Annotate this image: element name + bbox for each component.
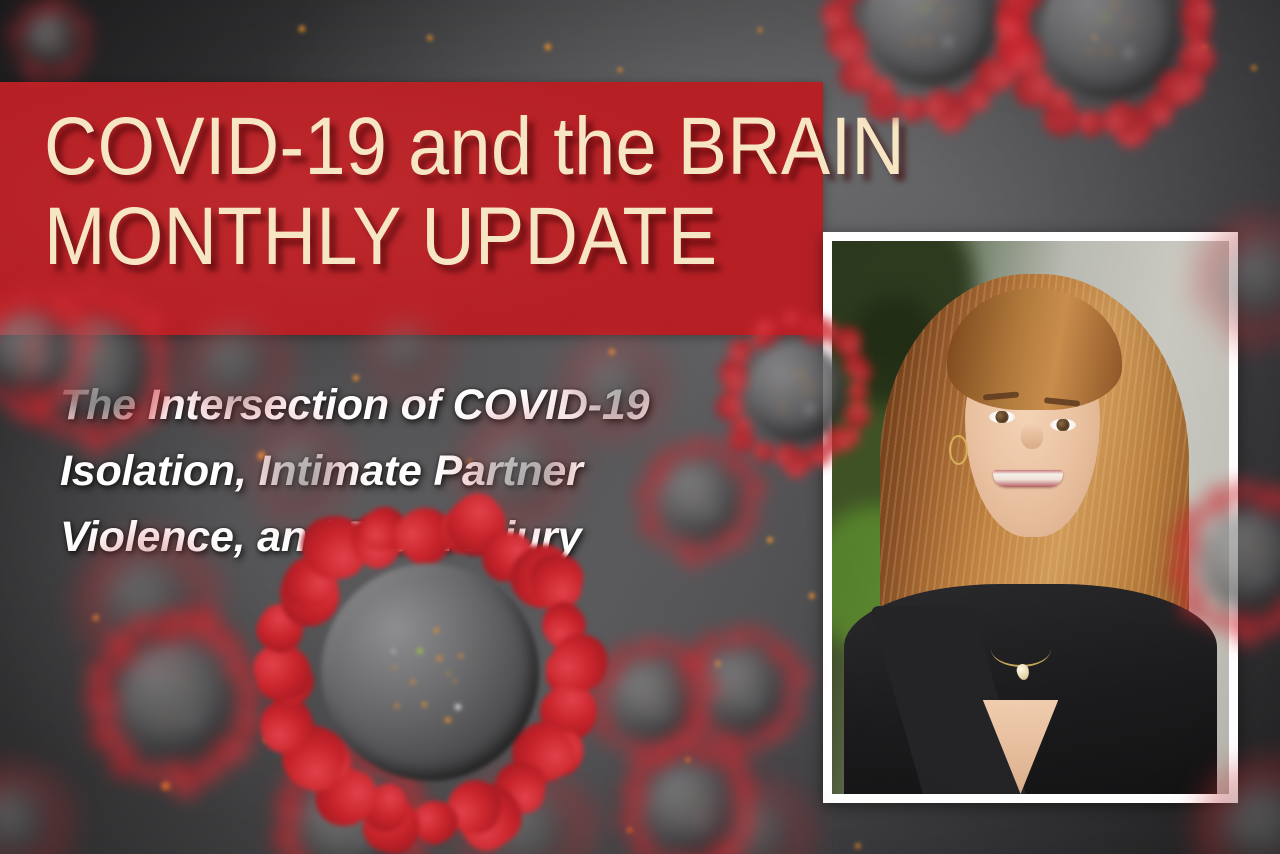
coronavirus-particle [184, 314, 288, 418]
surface-proteins [382, 326, 435, 379]
surface-proteins [1041, 0, 1180, 99]
portrait-photo [832, 241, 1229, 794]
coronavirus-particle [254, 424, 346, 516]
coronavirus-particle [1173, 485, 1280, 635]
coronavirus-particle [0, 769, 69, 854]
coronavirus-particle [0, 292, 90, 412]
mouth [993, 470, 1063, 487]
surface-proteins [1199, 511, 1280, 610]
surface-proteins [202, 332, 271, 401]
coronavirus-particle [90, 614, 262, 786]
surface-proteins [0, 312, 70, 391]
surface-proteins [119, 643, 233, 757]
banner-title-line-1: COVID-19 and the BRAIN [44, 106, 905, 188]
coronavirus-particle [624, 742, 756, 854]
earring-icon [949, 435, 968, 465]
coronavirus-particle [568, 338, 664, 434]
coronavirus-particle [1202, 220, 1280, 340]
surface-proteins [864, 0, 996, 86]
surface-proteins [1223, 785, 1280, 854]
coronavirus-particle [13, 1, 91, 79]
promo-graphic: COVID-19 and the BRAIN MONTHLY UPDATE Th… [0, 0, 1280, 854]
nose [1021, 423, 1043, 449]
surface-proteins [661, 461, 739, 539]
surface-proteins [747, 343, 846, 442]
coronavirus-particle [1005, 0, 1215, 135]
coronavirus-particle [721, 317, 871, 467]
surface-proteins [613, 661, 691, 739]
surface-proteins [0, 788, 50, 854]
surface-proteins [26, 14, 78, 66]
coronavirus-particle [1201, 763, 1280, 854]
surface-proteins [484, 434, 555, 505]
necklace [991, 631, 1051, 667]
banner-title-line-2: MONTHLY UPDATE [44, 196, 717, 278]
coronavirus-particle [265, 507, 595, 837]
surface-proteins [321, 563, 539, 781]
surface-proteins [646, 764, 733, 851]
surface-proteins [584, 354, 647, 417]
surface-proteins [270, 440, 331, 501]
surface-proteins [1222, 240, 1280, 319]
coronavirus-particle [368, 312, 448, 392]
